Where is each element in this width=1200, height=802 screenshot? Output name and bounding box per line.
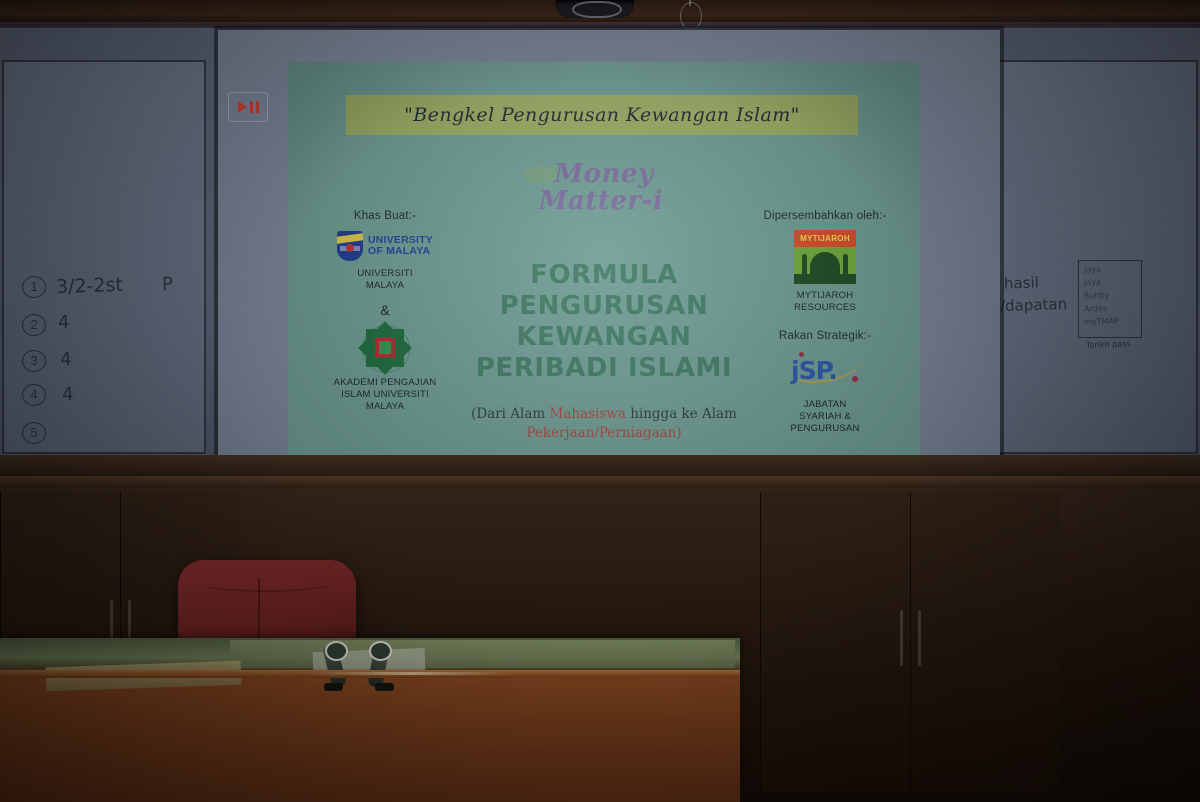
microphone-base xyxy=(324,683,343,691)
cabinet-door[interactable] xyxy=(760,492,911,792)
play-icon xyxy=(238,101,247,113)
wb-left-text-4: 4 xyxy=(62,384,74,405)
brand-line-2: Matter-i xyxy=(288,187,920,215)
university-of-malaya-logo: UNIVERSITY OF MALAYA xyxy=(310,231,460,261)
pause-bar-1-icon xyxy=(250,101,253,113)
projector-lens-icon xyxy=(572,1,622,18)
cabinet-handle[interactable] xyxy=(900,610,903,666)
wb-left-num-1: 1 xyxy=(22,276,46,298)
wb-right-note: Tarikh pass xyxy=(1086,339,1131,350)
akademi-pengajian-islam-logo xyxy=(362,325,408,371)
api-ring-icon xyxy=(362,325,410,373)
mytijaroh-badge: MYTIJAROH xyxy=(794,230,856,247)
desk-felt-inlay xyxy=(230,640,735,668)
desk-highlight xyxy=(310,672,510,675)
brand-line-1: Money xyxy=(288,162,920,187)
wb-left-text-3: 4 xyxy=(60,349,72,370)
wb-right-item-3: Ruhby xyxy=(1084,291,1109,301)
whiteboard-left: 1 3/2-2st P 2 4 3 4 4 4 5 xyxy=(4,62,204,452)
wb-right-item-4: Ardes xyxy=(1084,304,1107,314)
room-photo: 1 3/2-2st P 2 4 3 4 4 4 5 hasil /dapatan… xyxy=(0,0,1200,802)
subtitle-part-2: hingga ke Alam xyxy=(626,406,737,422)
wb-left-num-5: 5 xyxy=(22,422,46,444)
wb-left-side-mark: P xyxy=(162,274,174,295)
subtitle-highlight-1: Mahasiswa xyxy=(550,406,626,422)
money-matter-i-logo: Money Matter-i xyxy=(288,162,920,215)
wb-left-text-2: 4 xyxy=(58,312,70,333)
subtitle-part-1: (Dari Alam xyxy=(471,406,549,422)
wb-left-text-1: 3/2-2st xyxy=(56,274,124,298)
wb-right-heading-2: /dapatan xyxy=(1000,295,1068,315)
cabinet-top-rail xyxy=(0,476,1200,488)
wb-left-num-3: 3 xyxy=(22,350,46,372)
wb-left-num-2: 2 xyxy=(22,314,46,336)
wb-left-num-4: 4 xyxy=(22,384,46,406)
microphone-head-icon xyxy=(369,641,392,661)
wb-right-item-5: myTMAP xyxy=(1084,316,1119,326)
wb-right-item-2: Jaya xyxy=(1084,278,1101,288)
api-caption-line2: ISLAM UNIVERSITI xyxy=(310,389,460,401)
slide-banner: "Bengkel Pengurusan Kewangan Islam" xyxy=(346,95,858,135)
um-logo-line2: OF MALAYA xyxy=(368,246,433,257)
subtitle-highlight-2: Pekerjaan/Perniagaan) xyxy=(526,425,681,441)
mytijaroh-badge-text: MYTIJAROH xyxy=(794,230,856,247)
microphone-base xyxy=(375,683,394,691)
chair-backrest-seam xyxy=(200,574,332,592)
pause-bar-2-icon xyxy=(256,101,259,113)
slide-subtitle: (Dari Alam Mahasiswa hingga ke Alam Peke… xyxy=(398,405,810,443)
slide-banner-title: "Bengkel Pengurusan Kewangan Islam" xyxy=(346,95,858,135)
wb-right-item-1: Jaya xyxy=(1084,265,1101,275)
cabinet-handle[interactable] xyxy=(918,610,921,666)
um-crest-icon xyxy=(337,231,363,261)
headline-line-2: PENGURUSAN xyxy=(288,291,920,322)
um-logo-text: UNIVERSITY OF MALAYA xyxy=(368,235,433,257)
wb-right-box: Jaya Jaya Ruhby Ardes myTMAP xyxy=(1078,260,1142,338)
cabinet-door[interactable] xyxy=(910,492,1061,792)
headline-line-1: FORMULA xyxy=(288,260,920,291)
whiteboard-right: hasil /dapatan Jaya Jaya Ruhby Ardes myT… xyxy=(990,62,1196,452)
play-pause-indicator-icon xyxy=(228,92,268,122)
wb-right-heading-1: hasil xyxy=(1004,273,1039,292)
microphone-head-icon xyxy=(325,641,348,661)
